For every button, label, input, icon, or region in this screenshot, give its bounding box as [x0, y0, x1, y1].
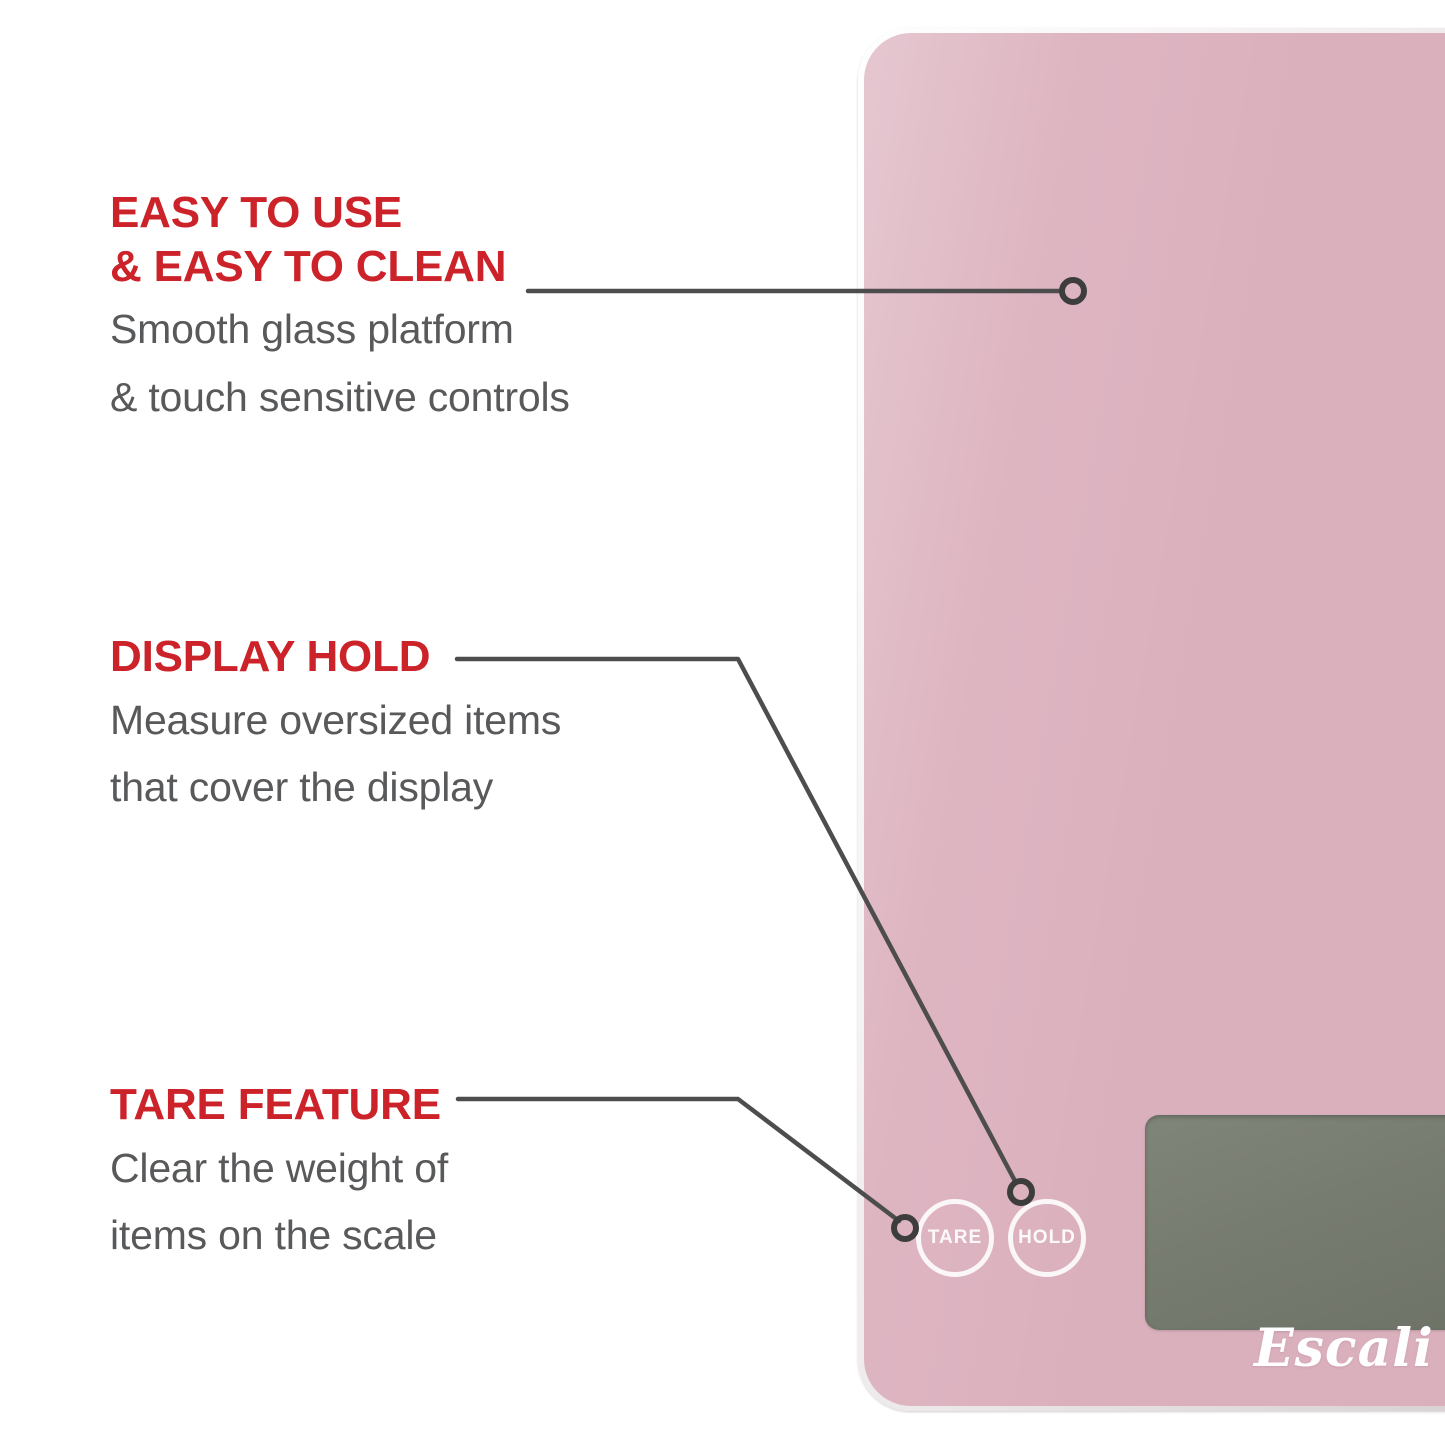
hold-button-label: HOLD [1018, 1227, 1076, 1249]
callout-tare-feature: TARE FEATURE Clear the weight of items o… [110, 1078, 448, 1267]
lcd-display [1145, 1115, 1445, 1330]
callout-display-hold: DISPLAY HOLD Measure oversized items tha… [110, 630, 561, 819]
hold-button[interactable]: HOLD [1008, 1199, 1086, 1277]
infographic-canvas: TARE HOLD Escali EASY TO USE & EASY TO C… [0, 0, 1445, 1445]
callout-easy-to-use: EASY TO USE & EASY TO CLEAN Smooth glass… [110, 186, 570, 428]
callout-display-hold-desc-line2: that cover the display [110, 757, 561, 819]
product-scale: TARE HOLD Escali [858, 28, 1445, 1411]
callout-easy-to-use-desc-line1: Smooth glass platform [110, 299, 570, 361]
callout-easy-to-use-title-line2: & EASY TO CLEAN [110, 240, 570, 294]
callout-easy-to-use-desc-line2: & touch sensitive controls [110, 367, 570, 429]
tare-button-label: TARE [928, 1227, 982, 1249]
callout-display-hold-title: DISPLAY HOLD [110, 630, 561, 684]
tare-button[interactable]: TARE [916, 1199, 994, 1277]
callout-tare-feature-desc-line2: items on the scale [110, 1205, 448, 1267]
escali-brand-logo: Escali [1254, 1318, 1434, 1379]
callout-tare-feature-desc-line1: Clear the weight of [110, 1138, 448, 1200]
callout-tare-feature-title: TARE FEATURE [110, 1078, 448, 1132]
leader-line-tare-feature [458, 1099, 899, 1221]
callout-display-hold-desc-line1: Measure oversized items [110, 690, 561, 752]
callout-easy-to-use-title-line1: EASY TO USE [110, 186, 570, 240]
